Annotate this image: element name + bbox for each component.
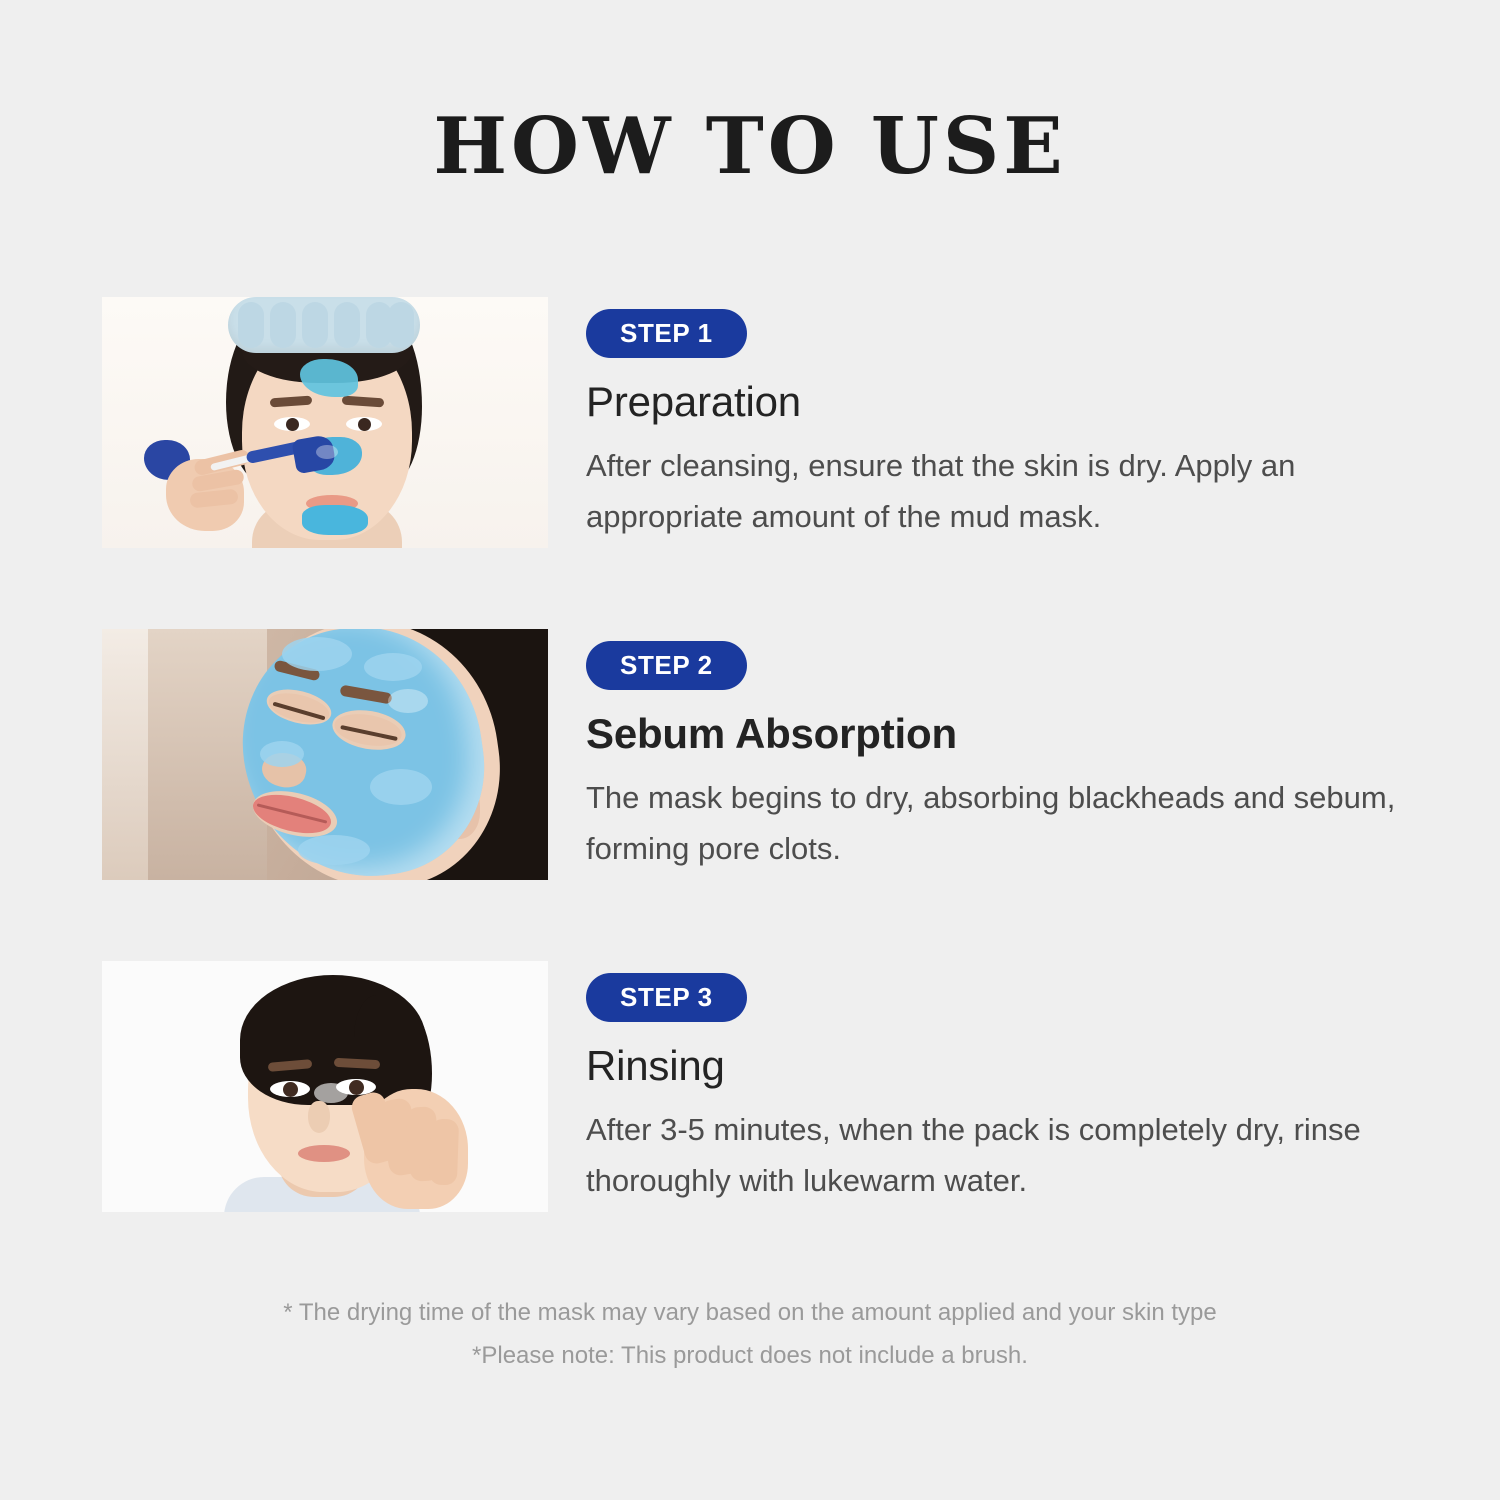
step-3-body: STEP 3 Rinsing After 3-5 minutes, when t… (548, 961, 1500, 1206)
step-row: STEP 1 Preparation After cleansing, ensu… (0, 297, 1500, 548)
step-3-description: After 3-5 minutes, when the pack is comp… (586, 1105, 1416, 1206)
step-3-image (102, 961, 548, 1212)
step-3-title: Rinsing (586, 1042, 1500, 1089)
step-2-title: Sebum Absorption (586, 710, 1500, 757)
footer-note-1: * The drying time of the mask may vary b… (0, 1292, 1500, 1335)
step-row: STEP 3 Rinsing After 3-5 minutes, when t… (0, 961, 1500, 1212)
step-1-badge: STEP 1 (586, 309, 747, 358)
step-1-title: Preparation (586, 378, 1500, 425)
step-2-description: The mask begins to dry, absorbing blackh… (586, 773, 1416, 874)
footer-note-2: *Please note: This product does not incl… (0, 1335, 1500, 1378)
step-2-body: STEP 2 Sebum Absorption The mask begins … (548, 629, 1500, 874)
step-3-badge: STEP 3 (586, 973, 747, 1022)
step-1-image (102, 297, 548, 548)
step-1-body: STEP 1 Preparation After cleansing, ensu… (548, 297, 1500, 542)
steps-list: STEP 1 Preparation After cleansing, ensu… (0, 297, 1500, 1212)
step-2-image (102, 629, 548, 880)
step-2-badge: STEP 2 (586, 641, 747, 690)
step-1-description: After cleansing, ensure that the skin is… (586, 441, 1416, 542)
footer-notes: * The drying time of the mask may vary b… (0, 1292, 1500, 1377)
page-title: HOW TO USE (0, 108, 1500, 186)
how-to-use-page: HOW TO USE (0, 0, 1500, 1500)
step-row: STEP 2 Sebum Absorption The mask begins … (0, 629, 1500, 880)
